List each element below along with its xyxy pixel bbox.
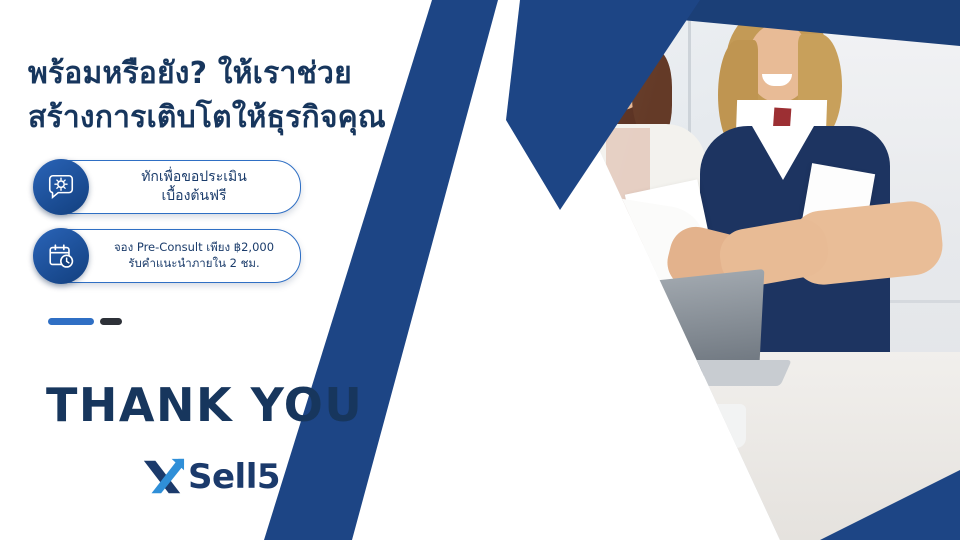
divider-dash-secondary xyxy=(100,318,122,325)
calendar-clock-icon xyxy=(33,228,89,284)
divider-dash-primary xyxy=(48,318,94,325)
brand-logo: Sell5 xyxy=(140,455,280,499)
chat-gear-icon xyxy=(33,159,89,215)
person-man-left-head xyxy=(444,62,528,154)
document-sheet xyxy=(484,414,638,479)
cta-pill-1-line-2: เบื้องต้นฟรี xyxy=(101,187,287,206)
presentation-slide: พร้อมหรือยัง? ให้เราช่วย สร้างการเติบโตใ… xyxy=(0,0,960,540)
page-title: พร้อมหรือยัง? ให้เราช่วย สร้างการเติบโตใ… xyxy=(28,52,448,139)
x-arrow-icon xyxy=(140,455,186,499)
person-man-left-shirt xyxy=(400,120,616,370)
cta-pill-2-text: จอง Pre-Consult เพียง ฿2,000 รับคำแนะนำภ… xyxy=(101,240,287,271)
cta-pill-1-text: ทักเพื่อขอประเมิน เบื้องต้นฟรี xyxy=(101,168,287,206)
divider xyxy=(48,318,122,325)
headline-line-1: พร้อมหรือยัง? ให้เราช่วย xyxy=(28,56,352,91)
cta-pill-pre-consult[interactable]: จอง Pre-Consult เพียง ฿2,000 รับคำแนะนำภ… xyxy=(34,229,301,283)
thank-you-text: THANK YOU xyxy=(46,378,363,432)
business-handshake-photo xyxy=(400,0,960,540)
pen xyxy=(520,395,616,412)
headline-line-2: สร้างการเติบโตให้ธุรกิจคุณ xyxy=(28,96,448,140)
coffee-cup xyxy=(700,404,746,448)
cta-pill-free-assessment[interactable]: ทักเพื่อขอประเมิน เบื้องต้นฟรี xyxy=(34,160,301,214)
photo-panel xyxy=(400,0,960,540)
cta-pill-2-line-1: จอง Pre-Consult เพียง ฿2,000 xyxy=(101,240,287,256)
laptop-base xyxy=(604,360,792,386)
brand-name: Sell5 xyxy=(188,457,280,497)
notebook xyxy=(517,354,609,388)
cta-pill-2-line-2: รับคำแนะนำภายใน 2 ชม. xyxy=(101,256,287,272)
cta-pill-1-line-1: ทักเพื่อขอประเมิน xyxy=(101,168,287,187)
